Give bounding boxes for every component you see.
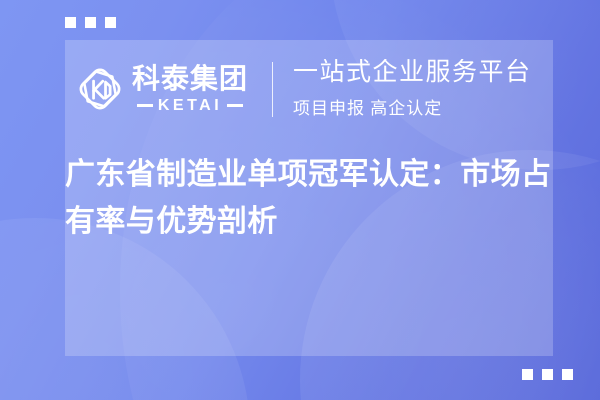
promo-banner: 科泰集团 KETAI 一站式企业服务平台 项目申报 高企认定 广东省制造业单项冠… xyxy=(0,0,600,400)
square-dot-icon xyxy=(562,369,573,380)
bottom-right-dots-decoration xyxy=(522,369,573,380)
content-panel: 科泰集团 KETAI 一站式企业服务平台 项目申报 高企认定 广东省制造业单项冠… xyxy=(65,40,553,356)
top-left-dots-decoration xyxy=(65,17,116,28)
tagline-primary: 一站式企业服务平台 xyxy=(293,59,532,88)
square-dot-icon xyxy=(105,17,116,28)
brand-wordmark: 科泰集团 KETAI xyxy=(132,65,248,114)
brand-name-en: KETAI xyxy=(158,98,222,114)
tagline-secondary: 项目申报 高企认定 xyxy=(293,94,532,119)
tagline-block: 一站式企业服务平台 项目申报 高企认定 xyxy=(293,59,532,119)
square-dot-icon xyxy=(542,369,553,380)
brand-header-row: 科泰集团 KETAI 一站式企业服务平台 项目申报 高企认定 xyxy=(65,40,553,138)
rule-left-icon xyxy=(137,104,153,107)
ketai-kd-monogram-icon xyxy=(77,66,123,112)
headline-title: 广东省制造业单项冠军认定：市场占有率与优势剖析 xyxy=(65,152,557,245)
square-dot-icon xyxy=(85,17,96,28)
brand-name-en-row: KETAI xyxy=(132,98,248,114)
brand-name-cn: 科泰集团 xyxy=(132,65,248,93)
square-dot-icon xyxy=(522,369,533,380)
brand-logo-lockup[interactable]: 科泰集团 KETAI xyxy=(77,65,248,114)
rule-right-icon xyxy=(227,104,243,107)
square-dot-icon xyxy=(65,17,76,28)
vertical-divider xyxy=(272,62,273,117)
